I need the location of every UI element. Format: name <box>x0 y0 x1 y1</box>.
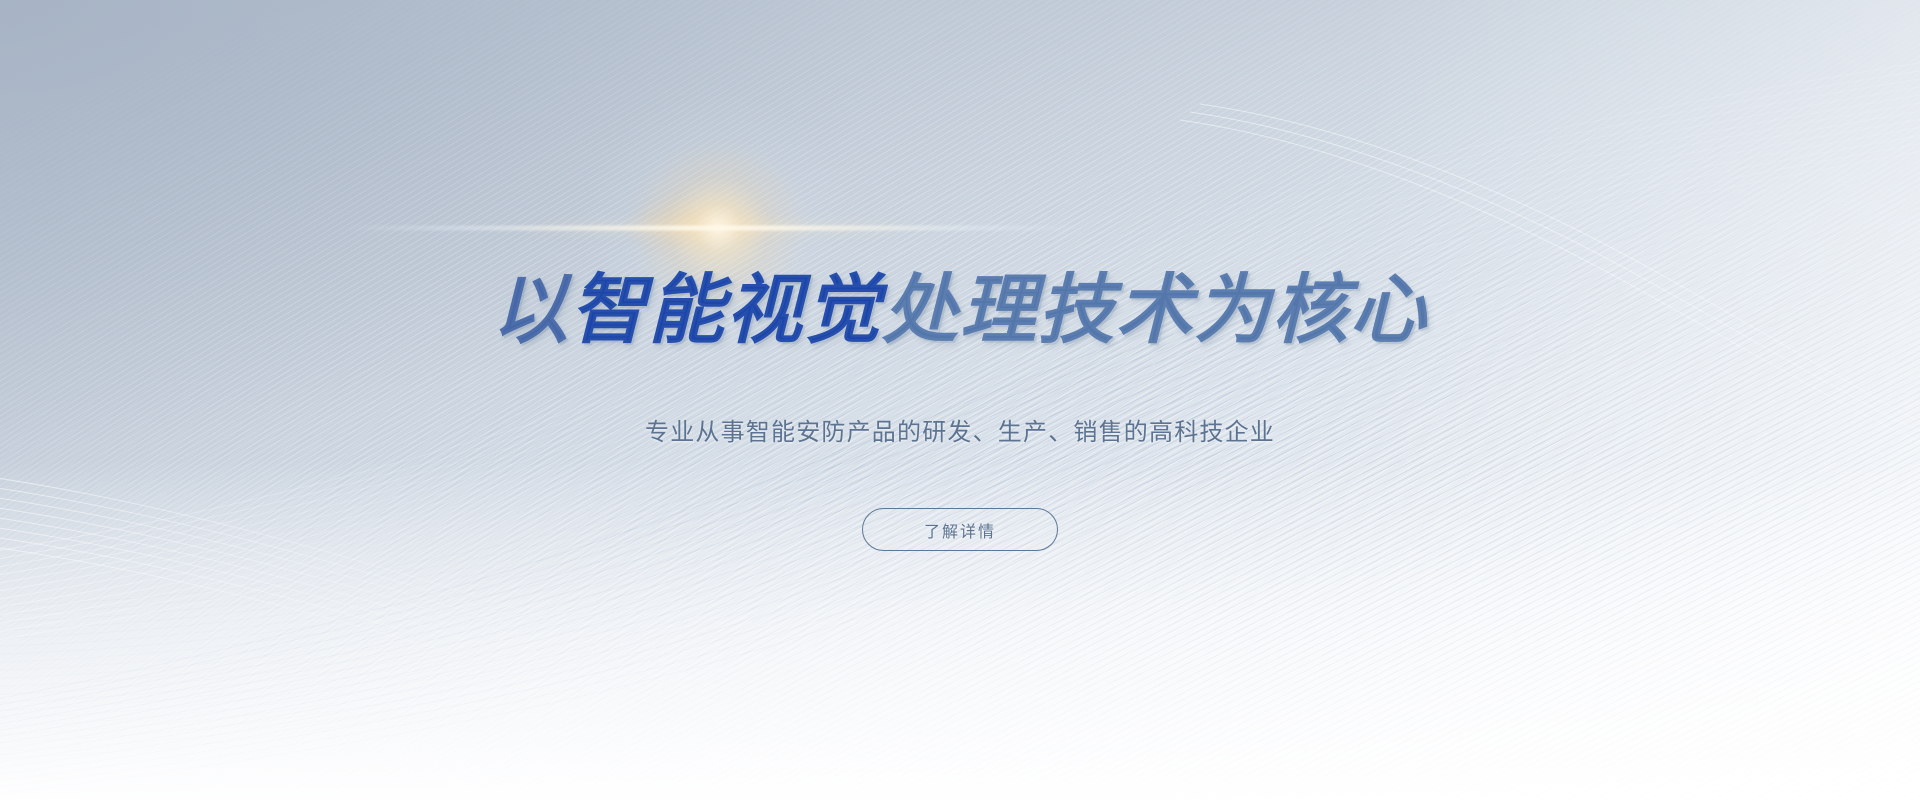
headline-segment-soft: 处理技术为核心 <box>882 265 1428 354</box>
background-fade-right <box>1360 0 1920 800</box>
lens-flare-warm-glow <box>625 194 775 254</box>
headline-segment-strong: 智能视觉 <box>570 265 882 354</box>
wave-ribbon-graphic <box>0 0 1920 800</box>
headline-segment-lead: 以 <box>492 265 570 354</box>
diagonal-hatch-light <box>0 0 1920 800</box>
lens-flare-streak <box>338 226 1098 231</box>
background-tint-top-left <box>0 0 880 440</box>
lens-flare-soft-streak <box>508 221 928 235</box>
diagonal-hatch-accent <box>0 0 1920 800</box>
hero-subtitle: 专业从事智能安防产品的研发、生产、销售的高科技企业 <box>645 412 1275 447</box>
hero-content: 以智能视觉处理技术为核心 专业从事智能安防产品的研发、生产、销售的高科技企业 了… <box>0 0 1920 800</box>
learn-more-button[interactable]: 了解详情 <box>862 508 1058 551</box>
diagonal-hatch-blue <box>0 0 1920 800</box>
hero-banner: 以智能视觉处理技术为核心 专业从事智能安防产品的研发、生产、销售的高科技企业 了… <box>0 0 1920 800</box>
lens-flare-core <box>578 88 858 368</box>
hero-headline: 以智能视觉处理技术为核心 <box>492 272 1428 348</box>
